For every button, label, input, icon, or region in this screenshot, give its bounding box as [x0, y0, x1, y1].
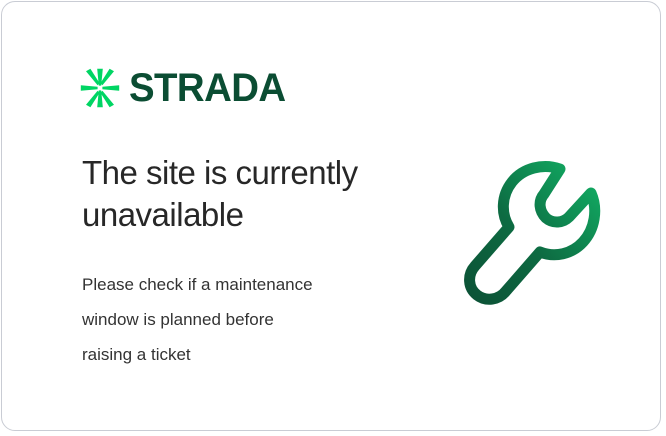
page-title: The site is currently unavailable — [82, 152, 412, 235]
error-page-card: STRADA The site is currently unavailable… — [1, 1, 661, 431]
wrench-illustration — [457, 157, 617, 312]
description-line: raising a ticket — [82, 338, 402, 373]
wrench-icon — [457, 157, 617, 312]
strada-asterisk-icon — [80, 68, 120, 108]
brand-lockup: STRADA — [80, 68, 292, 108]
brand-wordmark: STRADA — [129, 68, 286, 108]
description-line: window is planned before — [82, 303, 402, 338]
page-description: Please check if a maintenance window is … — [82, 268, 402, 373]
description-line: Please check if a maintenance — [82, 268, 402, 303]
